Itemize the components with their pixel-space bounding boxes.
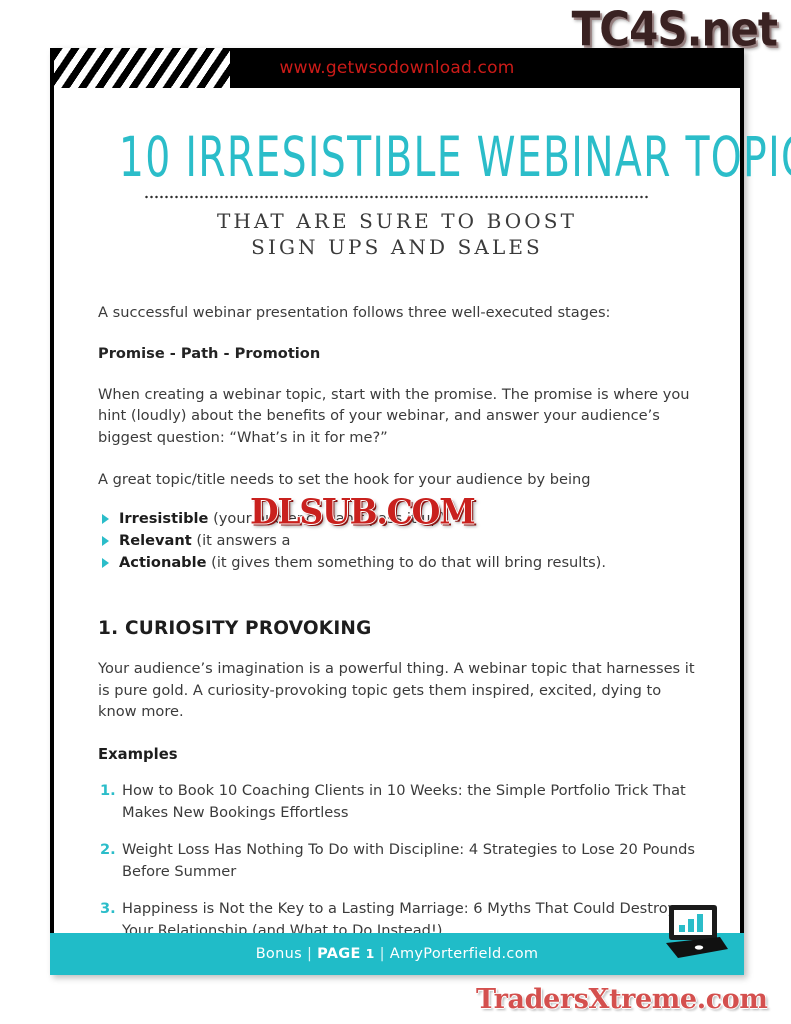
examples-list: How to Book 10 Coaching Clients in 10 We… bbox=[98, 780, 696, 941]
page-title: 10 IRRESISTIBLE WEBINAR TOPICS bbox=[119, 130, 675, 185]
intro-paragraph: A successful webinar presentation follow… bbox=[98, 302, 696, 323]
footer-page-label: PAGE bbox=[317, 946, 361, 962]
list-item: How to Book 10 Coaching Clients in 10 We… bbox=[100, 780, 696, 823]
list-item: Relevant (it answers a bbox=[102, 530, 696, 552]
watermark-tc4s: TC4S.net bbox=[572, 2, 777, 57]
stages-line: Promise - Path - Promotion bbox=[98, 343, 696, 364]
bullet-term: Actionable bbox=[119, 554, 207, 571]
watermark-tradersxtreme: TradersXtreme.com bbox=[476, 984, 768, 1015]
footer-text: Bonus|PAGE 1|AmyPorterfield.com bbox=[50, 933, 744, 975]
section-heading: 1. CURIOSITY PROVOKING bbox=[98, 618, 696, 639]
footer-bonus-label: Bonus bbox=[256, 946, 302, 962]
footer-page-number: 1 bbox=[366, 946, 375, 961]
page-subtitle-line-1: THAT ARE SURE TO BOOST bbox=[98, 208, 696, 234]
footer-separator-1: | bbox=[302, 946, 317, 962]
list-item: Weight Loss Has Nothing To Do with Disci… bbox=[100, 839, 696, 882]
promise-paragraph: When creating a webinar topic, start wit… bbox=[98, 384, 696, 448]
bullet-text: (it gives them something to do that will… bbox=[207, 554, 606, 571]
footer-separator-2: | bbox=[375, 946, 390, 962]
footer-site: AmyPorterfield.com bbox=[390, 946, 539, 962]
laptop-chart-icon bbox=[658, 903, 730, 965]
hook-lead-in: A great topic/title needs to set the hoo… bbox=[98, 469, 696, 490]
dotted-divider bbox=[144, 195, 650, 199]
section-paragraph: Your audience’s imagination is a powerfu… bbox=[98, 658, 696, 722]
bullet-term: Relevant bbox=[119, 532, 192, 549]
list-item: Actionable (it gives them something to d… bbox=[102, 552, 696, 574]
bullet-text: (it answers a bbox=[192, 532, 291, 549]
page-footer-bar: Bonus|PAGE 1|AmyPorterfield.com bbox=[50, 933, 744, 975]
watermark-dlsub: DLSUB.COM bbox=[250, 491, 475, 532]
page-subtitle-line-2: SIGN UPS AND SALES bbox=[98, 234, 696, 260]
examples-label: Examples bbox=[98, 746, 696, 763]
bullet-term: Irresistible bbox=[119, 510, 208, 527]
page-subtitle: THAT ARE SURE TO BOOST SIGN UPS AND SALE… bbox=[98, 208, 696, 260]
